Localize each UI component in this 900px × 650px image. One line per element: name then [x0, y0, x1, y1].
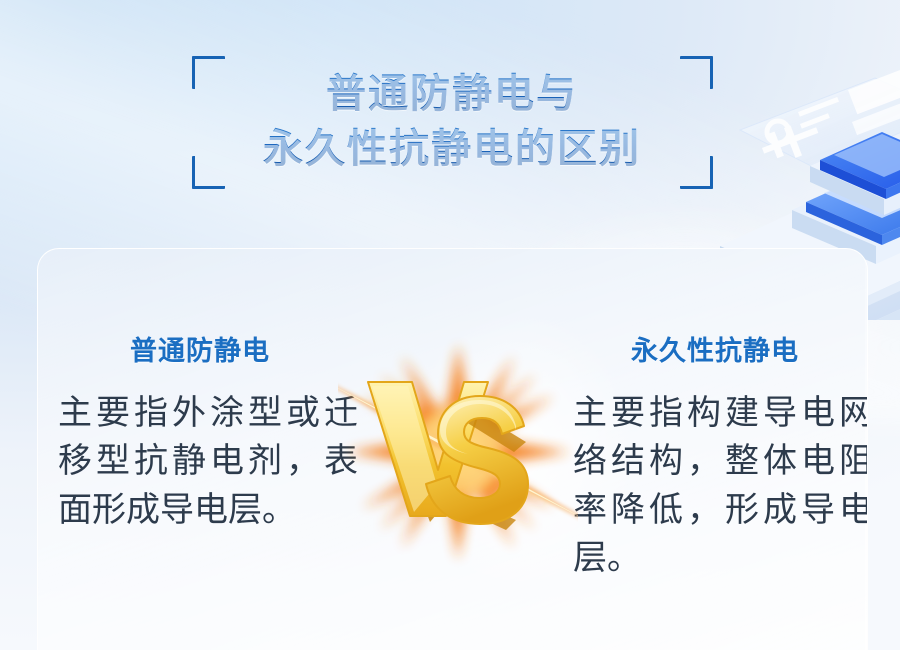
page-title: 普通防静电与 永久性抗静电的区别 [192, 52, 712, 192]
column-heading-left: 普通防静电 [48, 329, 352, 368]
title-line-1: 普通防静电与 [326, 68, 578, 121]
column-body-left: 主要指外涂型或迁移型抗静电剂，表面形成导电层。 [58, 389, 358, 534]
column-permanent-antistatic: 永久性抗静电 主要指构建导电网络结构，整体电阻率降低，形成导电层。 [563, 249, 867, 650]
vs-badge [338, 330, 578, 580]
poster-canvas: 普通防静电与 永久性抗静电的区别 [0, 0, 900, 650]
title-line-2: 永久性抗静电的区别 [263, 123, 641, 176]
column-body-right: 主要指构建导电网络结构，整体电阻率降低，形成导电层。 [573, 389, 868, 582]
column-heading-right: 永久性抗静电 [563, 329, 867, 368]
column-ordinary-antistatic: 普通防静电 主要指外涂型或迁移型抗静电剂，表面形成导电层。 [48, 249, 352, 650]
